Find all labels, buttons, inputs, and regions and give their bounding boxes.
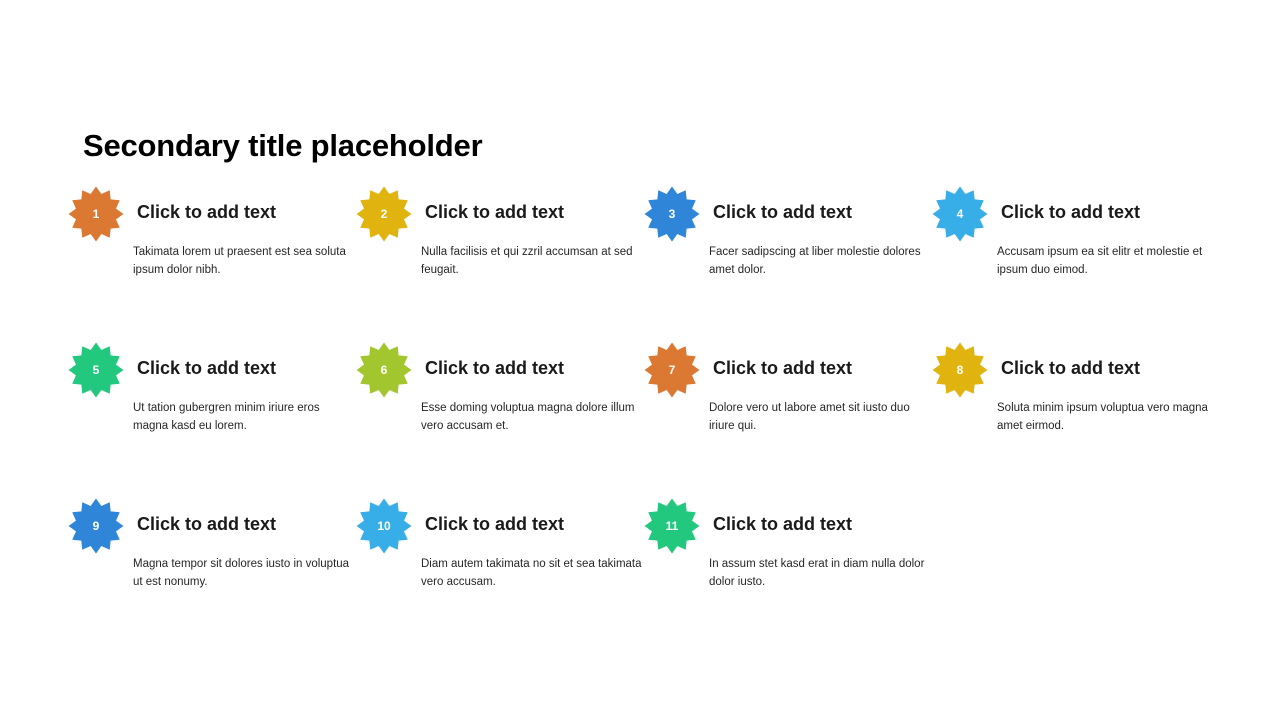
starburst-icon — [356, 498, 412, 554]
item-badge[interactable]: 3 — [644, 186, 700, 242]
item-heading[interactable]: Click to add text — [425, 202, 564, 223]
item-heading[interactable]: Click to add text — [713, 358, 852, 379]
list-item[interactable]: 4Click to add textAccusam ipsum ea sit e… — [932, 186, 1220, 316]
list-item[interactable]: 8Click to add textSoluta minim ipsum vol… — [932, 342, 1220, 472]
item-description[interactable]: Magna tempor sit dolores iusto in volupt… — [133, 556, 355, 592]
list-item[interactable]: 10Click to add textDiam autem takimata n… — [356, 498, 644, 628]
item-badge[interactable]: 1 — [68, 186, 124, 242]
item-badge[interactable]: 4 — [932, 186, 988, 242]
item-heading[interactable]: Click to add text — [713, 202, 852, 223]
starburst-icon — [644, 186, 700, 242]
item-heading[interactable]: Click to add text — [1001, 358, 1140, 379]
item-heading[interactable]: Click to add text — [137, 514, 276, 535]
list-item[interactable]: 6Click to add textEsse doming voluptua m… — [356, 342, 644, 472]
starburst-icon — [644, 498, 700, 554]
starburst-icon — [68, 498, 124, 554]
item-heading[interactable]: Click to add text — [425, 358, 564, 379]
item-badge[interactable]: 11 — [644, 498, 700, 554]
item-badge[interactable]: 5 — [68, 342, 124, 398]
item-description[interactable]: Dolore vero ut labore amet sit iusto duo… — [709, 400, 931, 436]
item-badge[interactable]: 8 — [932, 342, 988, 398]
starburst-icon — [356, 186, 412, 242]
starburst-icon — [644, 342, 700, 398]
item-badge[interactable]: 9 — [68, 498, 124, 554]
item-badge[interactable]: 6 — [356, 342, 412, 398]
item-description[interactable]: Nulla facilisis et qui zzril accumsan at… — [421, 244, 643, 280]
item-heading[interactable]: Click to add text — [137, 202, 276, 223]
item-badge[interactable]: 2 — [356, 186, 412, 242]
starburst-icon — [356, 342, 412, 398]
list-item[interactable]: 7Click to add textDolore vero ut labore … — [644, 342, 932, 472]
item-description[interactable]: Diam autem takimata no sit et sea takima… — [421, 556, 643, 592]
list-item[interactable]: 3Click to add textFacer sadipscing at li… — [644, 186, 932, 316]
list-item[interactable]: 11Click to add textIn assum stet kasd er… — [644, 498, 932, 628]
item-badge[interactable]: 7 — [644, 342, 700, 398]
list-item[interactable]: 1Click to add textTakimata lorem ut prae… — [68, 186, 356, 316]
item-description[interactable]: Esse doming voluptua magna dolore illum … — [421, 400, 643, 436]
item-badge[interactable]: 10 — [356, 498, 412, 554]
item-description[interactable]: Ut tation gubergren minim iriure eros ma… — [133, 400, 355, 436]
starburst-icon — [68, 186, 124, 242]
item-heading[interactable]: Click to add text — [713, 514, 852, 535]
item-description[interactable]: Takimata lorem ut praesent est sea solut… — [133, 244, 355, 280]
starburst-icon — [68, 342, 124, 398]
item-heading[interactable]: Click to add text — [425, 514, 564, 535]
item-heading[interactable]: Click to add text — [137, 358, 276, 379]
item-description[interactable]: Accusam ipsum ea sit elitr et molestie e… — [997, 244, 1219, 280]
page-title: Secondary title placeholder — [83, 128, 482, 164]
list-item[interactable]: 5Click to add textUt tation gubergren mi… — [68, 342, 356, 472]
item-description[interactable]: Facer sadipscing at liber molestie dolor… — [709, 244, 931, 280]
list-item[interactable]: 9Click to add textMagna tempor sit dolor… — [68, 498, 356, 628]
starburst-icon — [932, 186, 988, 242]
starburst-icon — [932, 342, 988, 398]
list-item[interactable]: 2Click to add textNulla facilisis et qui… — [356, 186, 644, 316]
items-grid: 1Click to add textTakimata lorem ut prae… — [68, 186, 1228, 606]
item-description[interactable]: In assum stet kasd erat in diam nulla do… — [709, 556, 931, 592]
item-description[interactable]: Soluta minim ipsum voluptua vero magna a… — [997, 400, 1219, 436]
slide-canvas: Secondary title placeholder 1Click to ad… — [0, 0, 1280, 720]
item-heading[interactable]: Click to add text — [1001, 202, 1140, 223]
